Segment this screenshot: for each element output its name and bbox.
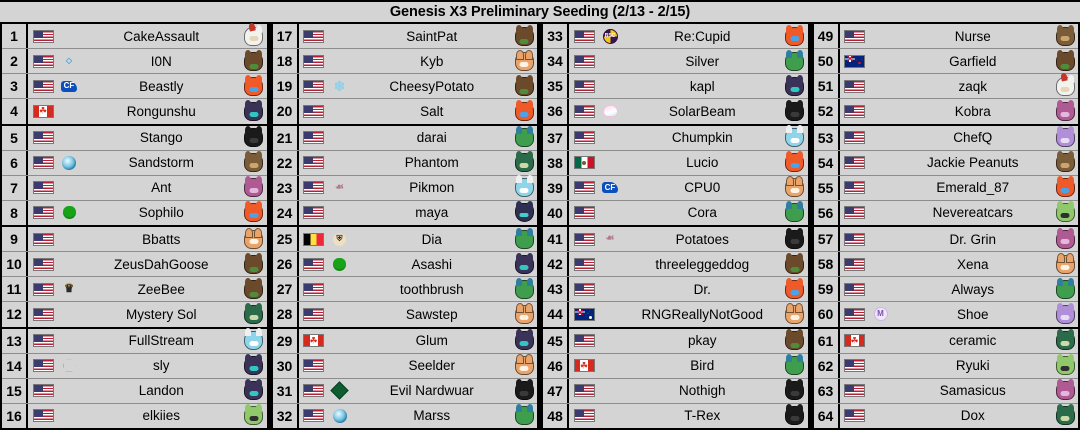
- flag-us-icon: [574, 30, 595, 43]
- seed-row[interactable]: 25⛨Dia: [273, 227, 538, 252]
- seeding-board: Genesis X3 Preliminary Seeding (2/13 - 2…: [0, 0, 1080, 430]
- character-cell: [511, 304, 537, 324]
- character-falcon-icon: [785, 76, 805, 96]
- player-name[interactable]: RNGReallyNotGood: [623, 307, 782, 322]
- player-name[interactable]: Beastly: [82, 79, 241, 94]
- seed-row[interactable]: 17SaintPat: [273, 24, 538, 49]
- seed-row[interactable]: 55Emerald_87: [814, 176, 1079, 201]
- seed-rank: 41: [543, 227, 569, 251]
- seed-rank: 11: [2, 277, 28, 301]
- seed-row[interactable]: 45pkay: [543, 329, 808, 354]
- seed-row[interactable]: 43Dr.: [543, 277, 808, 302]
- seed-rank: 15: [2, 379, 28, 403]
- player-name[interactable]: SaintPat: [353, 29, 512, 44]
- player-name[interactable]: CakeAssault: [82, 29, 241, 44]
- flag-cell: [840, 181, 868, 194]
- flag-us-icon: [844, 308, 865, 321]
- flag-us-icon: [574, 80, 595, 93]
- seed-row[interactable]: 38Lucio: [543, 151, 808, 176]
- sponsor-cell: M: [868, 307, 894, 321]
- seed-rank: 64: [814, 404, 840, 428]
- flag-cell: [299, 258, 327, 271]
- flag-us-icon: [33, 409, 54, 422]
- flag-us-icon: [574, 131, 595, 144]
- character-cell: [1052, 406, 1078, 426]
- seed-row[interactable]: 2◇I0N: [2, 49, 267, 74]
- seed-row[interactable]: 21darai: [273, 126, 538, 151]
- seeding-columns: 1CakeAssault2◇I0N3CFBeastly4☘Rongunshu5S…: [0, 24, 1080, 430]
- character-gaw-icon: [244, 128, 264, 148]
- seed-rank: 47: [543, 379, 569, 403]
- character-cell: [511, 331, 537, 351]
- player-name[interactable]: CheesyPotato: [353, 79, 512, 94]
- player-name[interactable]: T-Rex: [623, 408, 782, 423]
- seed-rank: 18: [273, 49, 299, 73]
- seed-rank: 49: [814, 24, 840, 48]
- sponsor-crown-icon: ♛: [61, 282, 78, 297]
- seed-row[interactable]: 41☙Potatoes: [543, 227, 808, 252]
- player-name[interactable]: toothbrush: [353, 282, 512, 297]
- seed-row[interactable]: 18Kyb: [273, 49, 538, 74]
- seed-rank: 22: [273, 151, 299, 175]
- character-gaw-icon: [785, 381, 805, 401]
- seed-rank: 36: [543, 99, 569, 123]
- sponsor-cell: [327, 258, 353, 271]
- seed-row[interactable]: 14sly: [2, 354, 267, 379]
- seed-rank: 48: [543, 404, 569, 428]
- player-name[interactable]: SolarBeam: [623, 104, 782, 119]
- seed-row[interactable]: 9Bbatts: [2, 227, 267, 252]
- player-name[interactable]: Evil Nardwuar: [353, 383, 512, 398]
- player-name[interactable]: Glum: [353, 333, 512, 348]
- flag-cell: [569, 30, 597, 43]
- seed-row[interactable]: 40Cora: [543, 201, 808, 227]
- player-name[interactable]: ceramic: [894, 333, 1053, 348]
- seed-row[interactable]: 26Asashi: [273, 252, 538, 277]
- seed-row[interactable]: 61☘ceramic: [814, 329, 1079, 354]
- flag-us-icon: [303, 55, 324, 68]
- flag-us-icon: [844, 359, 865, 372]
- character-sheik-icon: [785, 254, 805, 274]
- seed-row[interactable]: 10ZeusDahGoose: [2, 252, 267, 277]
- seed-row[interactable]: 12Mystery Sol: [2, 302, 267, 328]
- flag-cell: [840, 80, 868, 93]
- character-falcon-icon: [244, 101, 264, 121]
- sponsor-diamond-icon: ◇: [61, 54, 78, 69]
- character-cell: [241, 51, 267, 71]
- character-mewtwo-icon: [1055, 304, 1075, 324]
- player-name[interactable]: Emerald_87: [894, 180, 1053, 195]
- player-name[interactable]: Potatoes: [623, 232, 782, 247]
- player-name[interactable]: Stango: [82, 130, 241, 145]
- character-fox-icon: [514, 356, 534, 376]
- character-cell: [241, 356, 267, 376]
- sponsor-cell: ❄: [327, 79, 353, 94]
- sponsor-cell: [327, 384, 353, 397]
- player-name[interactable]: Sawstep: [353, 307, 512, 322]
- player-name[interactable]: Pikmon: [353, 180, 512, 195]
- seed-row[interactable]: 31Evil Nardwuar: [273, 379, 538, 404]
- flag-cell: [569, 233, 597, 246]
- character-cell: [511, 406, 537, 426]
- flag-cell: [28, 80, 56, 93]
- seed-rank: 2: [2, 49, 28, 73]
- player-name[interactable]: Re:Cupid: [623, 29, 782, 44]
- sponsor-cell: [56, 156, 82, 170]
- flag-cell: [569, 206, 597, 219]
- character-cell: [511, 203, 537, 223]
- player-name[interactable]: Dr.: [623, 282, 782, 297]
- seed-row[interactable]: 57Dr. Grin: [814, 227, 1079, 252]
- player-name[interactable]: Asashi: [353, 257, 512, 272]
- seed-row[interactable]: 63Samasicus: [814, 379, 1079, 404]
- flag-cell: [299, 131, 327, 144]
- player-name[interactable]: Kyb: [353, 54, 512, 69]
- flag-us-icon: [844, 156, 865, 169]
- player-name[interactable]: zaqk: [894, 79, 1053, 94]
- player-name[interactable]: Landon: [82, 383, 241, 398]
- character-cell: [511, 178, 537, 198]
- player-name[interactable]: Garfield: [894, 54, 1053, 69]
- character-cell: [511, 381, 537, 401]
- flag-cell: [569, 156, 597, 169]
- player-name[interactable]: Ryuki: [894, 358, 1053, 373]
- seed-rank: 54: [814, 151, 840, 175]
- character-falcon-icon: [514, 331, 534, 351]
- player-name[interactable]: Nevereatcars: [894, 205, 1053, 220]
- seed-row[interactable]: 8Sophilo: [2, 201, 267, 227]
- player-name[interactable]: Chumpkin: [623, 130, 782, 145]
- character-cell: [511, 153, 537, 173]
- flag-cell: [28, 181, 56, 194]
- seed-row[interactable]: 3CFBeastly: [2, 74, 267, 99]
- player-name[interactable]: Lucio: [623, 155, 782, 170]
- flag-us-icon: [303, 131, 324, 144]
- seed-rank: 38: [543, 151, 569, 175]
- seed-row[interactable]: 53ChefQ: [814, 126, 1079, 151]
- player-name[interactable]: elkiies: [82, 408, 241, 423]
- seed-row[interactable]: 28Sawstep: [273, 302, 538, 328]
- flag-us-icon: [303, 206, 324, 219]
- flag-us-icon: [33, 80, 54, 93]
- flag-cell: [840, 283, 868, 296]
- flag-cell: [28, 359, 56, 372]
- character-ics-icon: [244, 331, 264, 351]
- sponsor-bsc-icon: BSC: [603, 29, 618, 44]
- seed-row[interactable]: 4☘Rongunshu: [2, 99, 267, 125]
- seed-row[interactable]: 52Kobra: [814, 99, 1079, 125]
- sponsor-m-icon: M: [874, 307, 888, 321]
- seed-row[interactable]: 11♛ZeeBee: [2, 277, 267, 302]
- seed-rank: 7: [2, 176, 28, 200]
- player-name[interactable]: Salt: [353, 104, 512, 119]
- flag-cell: [840, 359, 868, 372]
- seed-row[interactable]: 22Phantom: [273, 151, 538, 176]
- flag-us-icon: [33, 156, 54, 169]
- seed-row[interactable]: 58Xena: [814, 252, 1079, 277]
- character-cell: [1052, 128, 1078, 148]
- flag-ca-icon: ☘: [574, 359, 595, 372]
- character-cell: [782, 356, 808, 376]
- player-name[interactable]: Marss: [353, 408, 512, 423]
- flag-au-icon: [574, 308, 595, 321]
- seed-rank: 40: [543, 201, 569, 225]
- flag-us-icon: [303, 283, 324, 296]
- player-name[interactable]: Rongunshu: [82, 104, 241, 119]
- character-mewtwo-icon: [1055, 128, 1075, 148]
- seed-row[interactable]: 35kapl: [543, 74, 808, 99]
- seed-rank: 30: [273, 354, 299, 378]
- character-cell: [782, 254, 808, 274]
- flag-us-icon: [303, 409, 324, 422]
- character-cell: [1052, 381, 1078, 401]
- player-name[interactable]: ZeeBee: [82, 282, 241, 297]
- seed-rank: 51: [814, 74, 840, 98]
- flag-cell: [28, 409, 56, 422]
- player-name[interactable]: Dox: [894, 408, 1053, 423]
- character-cell: [511, 254, 537, 274]
- character-cell: [511, 26, 537, 46]
- seed-row[interactable]: 44RNGReallyNotGood: [543, 302, 808, 328]
- seed-row[interactable]: 7Ant: [2, 176, 267, 201]
- seed-row[interactable]: 48T-Rex: [543, 404, 808, 428]
- character-cell: [782, 229, 808, 249]
- character-fox-icon: [514, 51, 534, 71]
- flag-cell: [299, 55, 327, 68]
- seed-row[interactable]: 64Dox: [814, 404, 1079, 428]
- sponsor-liquid-icon: [62, 156, 76, 170]
- flag-ca-icon: ☘: [844, 334, 865, 347]
- flag-us-icon: [303, 80, 324, 93]
- player-name[interactable]: Ant: [82, 180, 241, 195]
- character-sheik-icon: [785, 331, 805, 351]
- seed-rank: 12: [2, 302, 28, 326]
- sponsor-cloud-icon: [603, 105, 618, 117]
- seed-row[interactable]: 19❄CheesyPotato: [273, 74, 538, 99]
- flag-cell: [569, 105, 597, 118]
- character-link-icon: [514, 153, 534, 173]
- character-ics-icon: [514, 178, 534, 198]
- flag-cell: [299, 359, 327, 372]
- character-cell: [782, 128, 808, 148]
- flag-us-icon: [33, 30, 54, 43]
- player-name[interactable]: Always: [894, 282, 1053, 297]
- player-name[interactable]: Nurse: [894, 29, 1053, 44]
- player-name[interactable]: Samasicus: [894, 383, 1053, 398]
- seed-row[interactable]: 16elkiies: [2, 404, 267, 428]
- character-samus-icon: [785, 26, 805, 46]
- player-name[interactable]: Mystery Sol: [82, 307, 241, 322]
- flag-cell: [840, 258, 868, 271]
- player-name[interactable]: Sandstorm: [82, 155, 241, 170]
- character-luigi-icon: [785, 356, 805, 376]
- player-name[interactable]: FullStream: [82, 333, 241, 348]
- flag-us-icon: [303, 384, 324, 397]
- seed-row[interactable]: 32Marss: [273, 404, 538, 428]
- seed-row[interactable]: 56Nevereatcars: [814, 201, 1079, 227]
- flag-cell: [569, 283, 597, 296]
- flag-us-icon: [574, 105, 595, 118]
- flag-cell: [840, 131, 868, 144]
- seed-row[interactable]: 5Stango: [2, 126, 267, 151]
- character-cell: [1052, 254, 1078, 274]
- player-name[interactable]: darai: [353, 130, 512, 145]
- seed-row[interactable]: 51zaqk: [814, 74, 1079, 99]
- player-name[interactable]: ChefQ: [894, 130, 1053, 145]
- character-falco-icon: [1055, 76, 1075, 96]
- seed-row[interactable]: 37Chumpkin: [543, 126, 808, 151]
- player-name[interactable]: Dr. Grin: [894, 232, 1053, 247]
- character-link-icon: [1055, 331, 1075, 351]
- seed-rank: 1: [2, 24, 28, 48]
- player-name[interactable]: sly: [82, 358, 241, 373]
- player-name[interactable]: Shoe: [894, 307, 1053, 322]
- flag-us-icon: [574, 258, 595, 271]
- seed-row[interactable]: 50Garfield: [814, 49, 1079, 74]
- character-cell: [782, 153, 808, 173]
- seed-row[interactable]: 13FullStream: [2, 329, 267, 354]
- flag-us-icon: [303, 156, 324, 169]
- seed-row[interactable]: 24maya: [273, 201, 538, 227]
- flag-cell: [569, 409, 597, 422]
- sponsor-cell: [56, 359, 82, 372]
- character-cell: [241, 26, 267, 46]
- seed-rank: 50: [814, 49, 840, 73]
- title-bar: Genesis X3 Preliminary Seeding (2/13 - 2…: [0, 0, 1080, 24]
- player-name[interactable]: Sophilo: [82, 205, 241, 220]
- flag-cell: [28, 131, 56, 144]
- player-name[interactable]: Jackie Peanuts: [894, 155, 1053, 170]
- seed-row[interactable]: 62Ryuki: [814, 354, 1079, 379]
- character-sheik-icon: [244, 254, 264, 274]
- seed-row[interactable]: 42threeleggeddog: [543, 252, 808, 277]
- seed-rank: 58: [814, 252, 840, 276]
- character-cell: [241, 406, 267, 426]
- seed-rank: 9: [2, 227, 28, 251]
- seed-row[interactable]: 54Jackie Peanuts: [814, 151, 1079, 176]
- player-name[interactable]: kapl: [623, 79, 782, 94]
- seed-row[interactable]: 59Always: [814, 277, 1079, 302]
- flag-us-icon: [574, 384, 595, 397]
- seed-row[interactable]: 27toothbrush: [273, 277, 538, 302]
- flag-cell: [569, 80, 597, 93]
- flag-cell: [28, 233, 56, 246]
- character-cell: [1052, 279, 1078, 299]
- player-name[interactable]: pkay: [623, 333, 782, 348]
- character-jiggly-icon: [1055, 101, 1075, 121]
- seed-rank: 52: [814, 99, 840, 123]
- character-falco-icon: [244, 26, 264, 46]
- flag-ca-icon: ☘: [33, 105, 54, 118]
- flag-cell: [299, 206, 327, 219]
- character-ganon-icon: [1055, 153, 1075, 173]
- flag-us-icon: [303, 359, 324, 372]
- player-name[interactable]: threeleggeddog: [623, 257, 782, 272]
- player-name[interactable]: Bird: [623, 358, 782, 373]
- sponsor-cell: BSC: [597, 29, 623, 44]
- flag-us-icon: [574, 283, 595, 296]
- seed-row[interactable]: 6Sandstorm: [2, 151, 267, 176]
- player-name[interactable]: Cora: [623, 205, 782, 220]
- character-falcon-icon: [514, 254, 534, 274]
- character-cell: [782, 26, 808, 46]
- character-gaw-icon: [785, 229, 805, 249]
- player-name[interactable]: ZeusDahGoose: [82, 257, 241, 272]
- flag-cell: [28, 156, 56, 169]
- seed-rank: 56: [814, 201, 840, 225]
- seed-rank: 43: [543, 277, 569, 301]
- flag-cell: [299, 105, 327, 118]
- column-3: 33BSCRe:Cupid34Silver35kapl36SolarBeam37…: [540, 24, 811, 430]
- flag-cell: [569, 181, 597, 194]
- character-yoshi-icon: [1055, 356, 1075, 376]
- seed-row[interactable]: 15Landon: [2, 379, 267, 404]
- seed-row[interactable]: 1CakeAssault: [2, 24, 267, 49]
- seed-rank: 6: [2, 151, 28, 175]
- character-link-icon: [244, 304, 264, 324]
- character-cell: [511, 76, 537, 96]
- flag-us-icon: [844, 181, 865, 194]
- player-name[interactable]: I0N: [82, 54, 241, 69]
- column-2: 17SaintPat18Kyb19❄CheesyPotato20Salt21da…: [270, 24, 541, 430]
- seed-row[interactable]: 46☘Bird: [543, 354, 808, 379]
- character-cell: [782, 304, 808, 324]
- player-name[interactable]: Nothigh: [623, 383, 782, 398]
- seed-row[interactable]: 39CFCPU0: [543, 176, 808, 201]
- character-gaw-icon: [785, 101, 805, 121]
- seed-row[interactable]: 30Seelder: [273, 354, 538, 379]
- character-cell: [241, 128, 267, 148]
- flag-cell: [569, 334, 597, 347]
- seed-row[interactable]: 36SolarBeam: [543, 99, 808, 125]
- player-name[interactable]: Xena: [894, 257, 1053, 272]
- seed-row[interactable]: 33BSCRe:Cupid: [543, 24, 808, 49]
- flag-us-icon: [33, 181, 54, 194]
- seed-row[interactable]: 34Silver: [543, 49, 808, 74]
- seed-row[interactable]: 49Nurse: [814, 24, 1079, 49]
- player-name[interactable]: Silver: [623, 54, 782, 69]
- player-name[interactable]: CPU0: [623, 180, 782, 195]
- player-name[interactable]: Phantom: [353, 155, 512, 170]
- flag-us-icon: [844, 283, 865, 296]
- player-name[interactable]: maya: [353, 205, 512, 220]
- character-falcon-icon: [244, 381, 264, 401]
- player-name[interactable]: Bbatts: [82, 232, 241, 247]
- player-name[interactable]: Dia: [353, 232, 512, 247]
- character-cell: [241, 203, 267, 223]
- flag-cell: [299, 80, 327, 93]
- character-samus-icon: [785, 279, 805, 299]
- player-name[interactable]: Kobra: [894, 104, 1053, 119]
- seed-row[interactable]: 29☘Glum: [273, 329, 538, 354]
- character-sheik-icon: [244, 51, 264, 71]
- seed-row[interactable]: 47Nothigh: [543, 379, 808, 404]
- character-cell: [241, 304, 267, 324]
- seed-row[interactable]: 23☙Pikmon: [273, 176, 538, 201]
- seed-row[interactable]: 20Salt: [273, 99, 538, 125]
- sponsor-snowflake-icon: ❄: [331, 79, 348, 94]
- character-cell: [1052, 51, 1078, 71]
- seed-row[interactable]: 60MShoe: [814, 302, 1079, 328]
- player-name[interactable]: Seelder: [353, 358, 512, 373]
- sponsor-leaf-icon: [333, 258, 346, 271]
- flag-cell: [299, 384, 327, 397]
- seed-rank: 37: [543, 126, 569, 150]
- seed-rank: 62: [814, 354, 840, 378]
- seed-rank: 17: [273, 24, 299, 48]
- character-sheik-icon: [244, 279, 264, 299]
- flag-mx-icon: [574, 156, 595, 169]
